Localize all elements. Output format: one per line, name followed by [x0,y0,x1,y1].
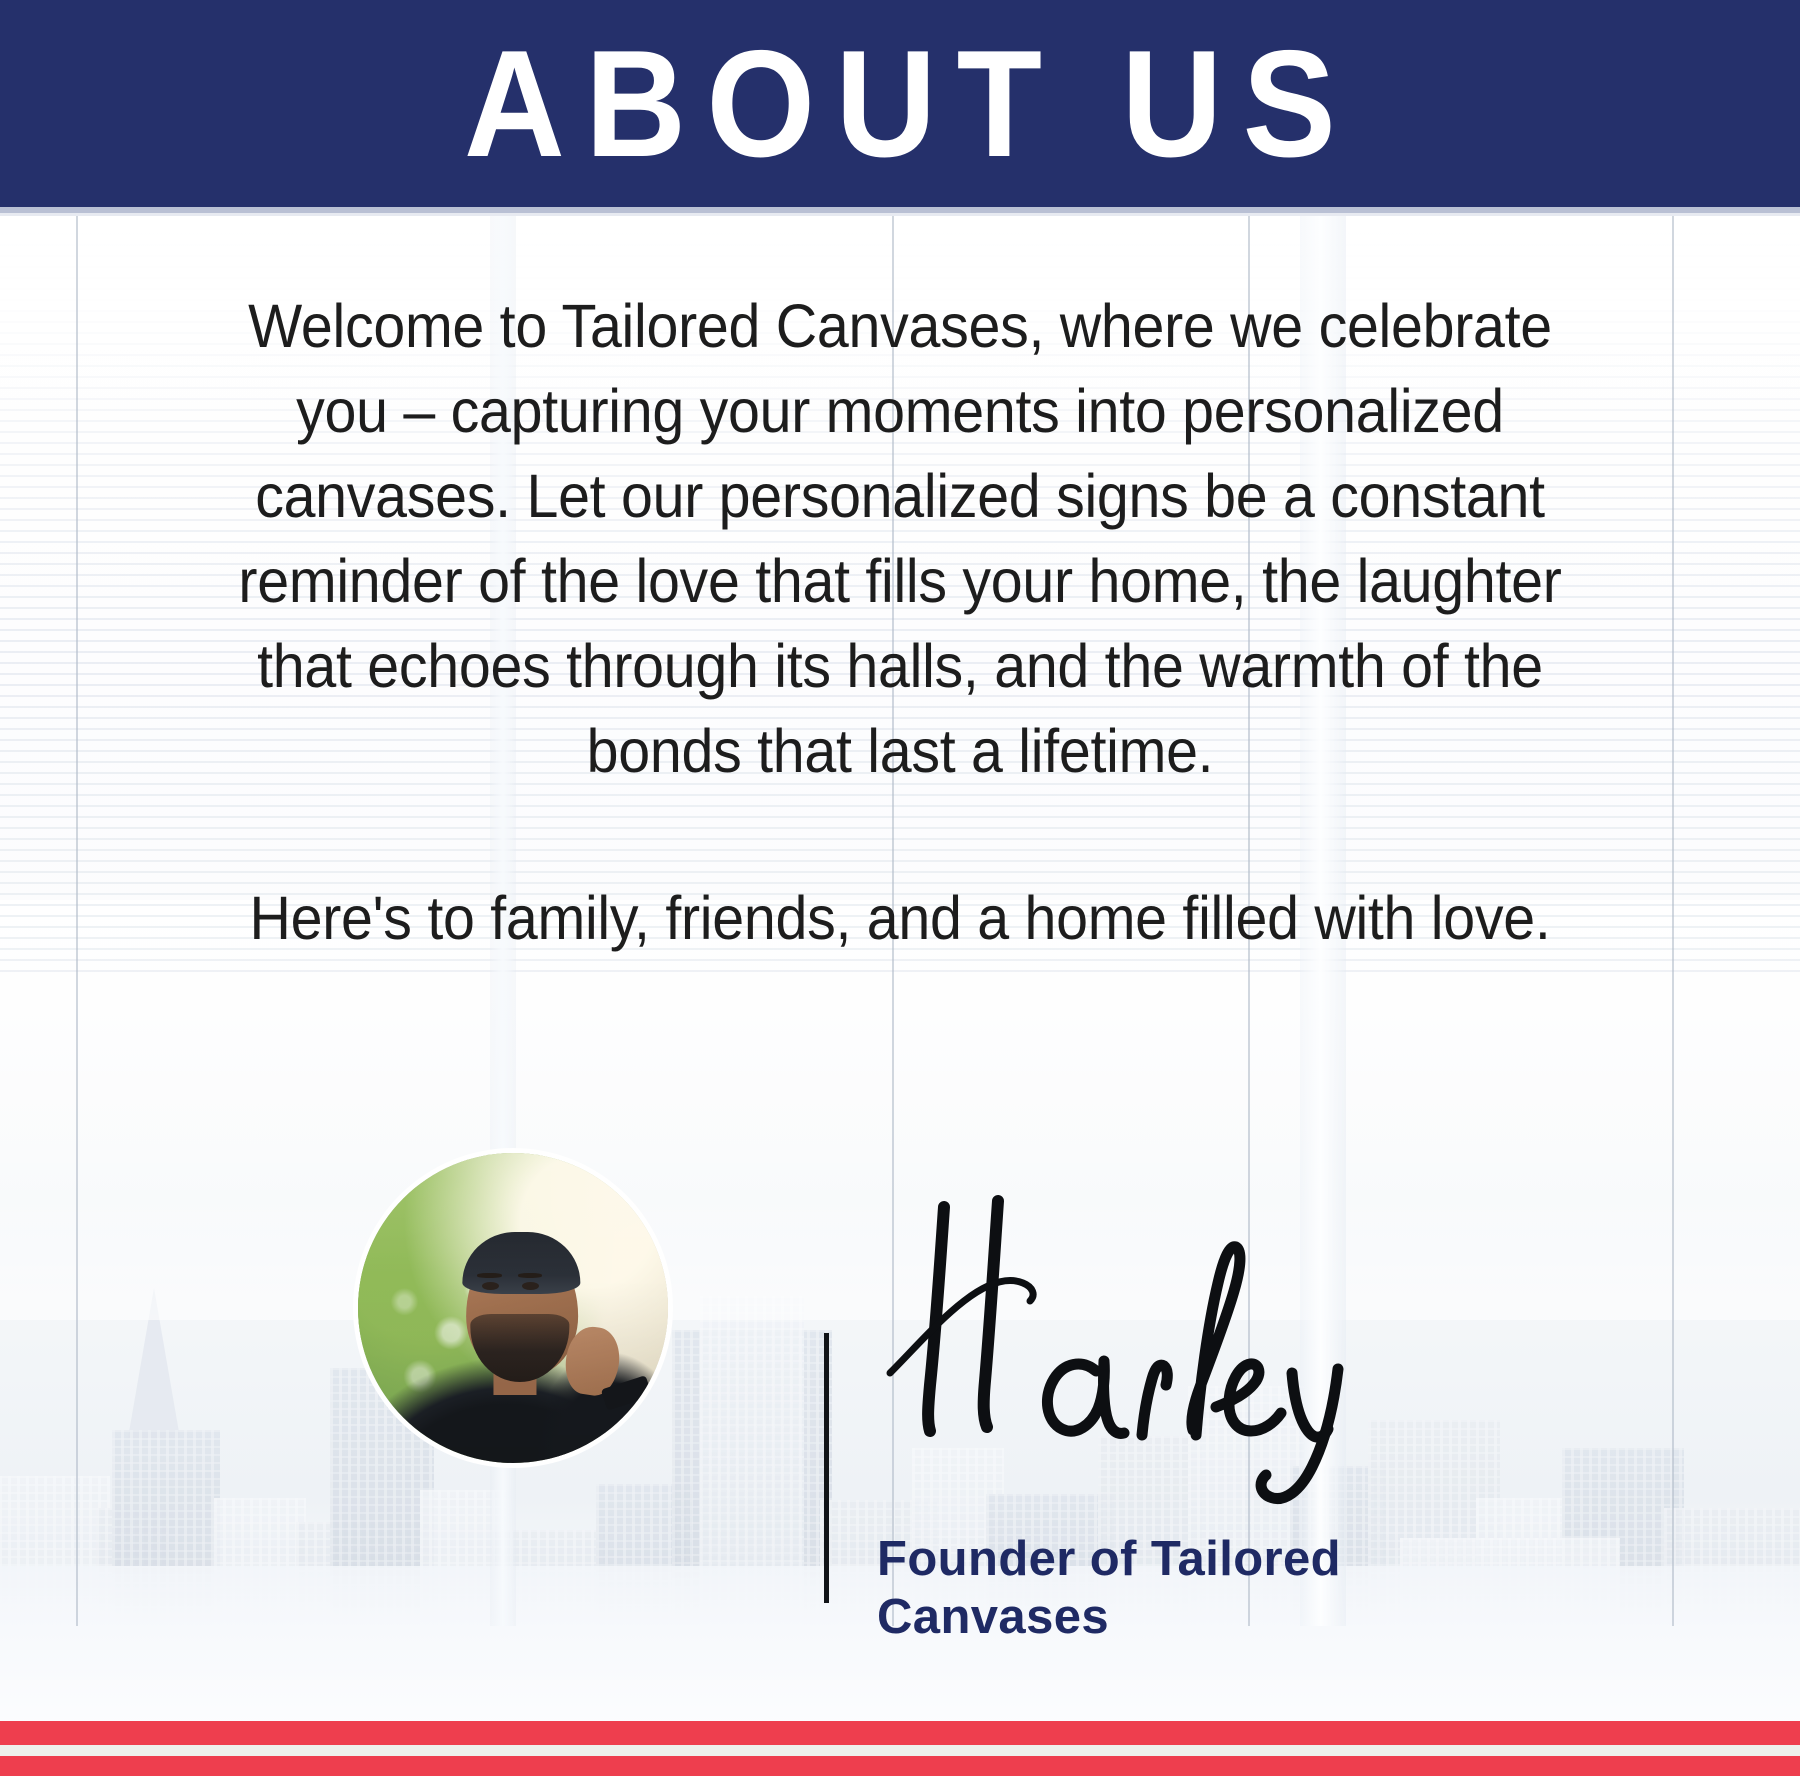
signature-divider [824,1333,829,1603]
header-divider-secondary [0,213,1800,216]
about-us-poster: ABOUT US Welcome to Tailored Canvases, w… [0,0,1800,1776]
window-mullion [1672,213,1674,1626]
window-mullion [76,213,78,1626]
about-paragraph-1: Welcome to Tailored Canvases, where we c… [214,284,1586,794]
footer-gap [0,1745,1800,1756]
about-paragraph-2: Here's to family, friends, and a home fi… [214,876,1586,961]
founder-avatar [358,1153,668,1463]
founder-role: Founder of Tailored Canvases [877,1530,1497,1646]
header-banner: ABOUT US [0,0,1800,207]
footer-accent-bar-top [0,1721,1800,1745]
page-title: ABOUT US [444,28,1356,180]
footer-accent-bar-bottom [0,1756,1800,1776]
founder-signature [860,1135,1360,1465]
founder-role-line-1: Founder of Tailored [877,1530,1497,1588]
about-copy: Welcome to Tailored Canvases, where we c… [214,284,1586,961]
avatar-shading [358,1153,668,1463]
founder-role-line-2: Canvases [877,1588,1497,1646]
